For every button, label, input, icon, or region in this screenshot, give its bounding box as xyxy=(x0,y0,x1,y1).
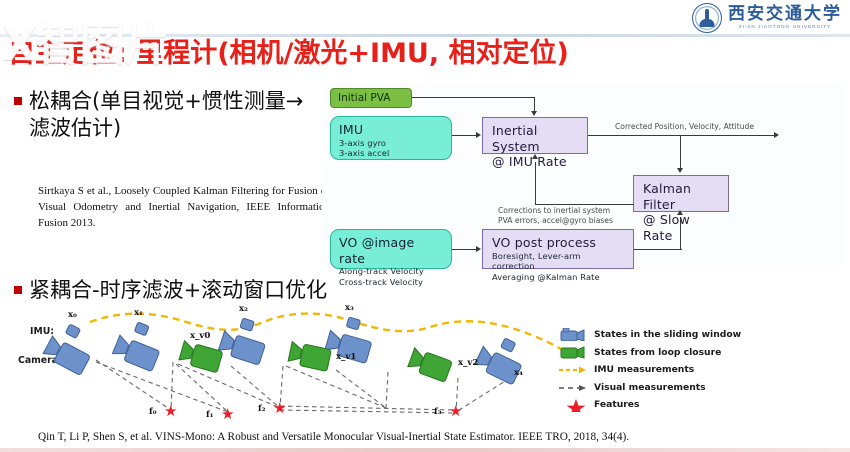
arrow-corrections-up-icon xyxy=(532,154,538,159)
vins-loop-state-xv0: x_v0 xyxy=(190,331,210,341)
loosely-coupled-block-diagram: Initial PVA IMU 3-axis gyro 3-axis accel… xyxy=(322,84,846,266)
legend-label-imu-measurements: IMU measurements xyxy=(594,364,694,375)
legend-label-loop-closure: States from loop closure xyxy=(594,347,721,358)
arrow-post-up-icon xyxy=(677,210,683,215)
vins-feature-f2: f₂ xyxy=(258,404,265,414)
bullet-loose-label: 松耦合(单目视觉+惯性测量→滤波估计) xyxy=(29,88,314,142)
vins-state-x0: x₀ xyxy=(68,310,77,320)
blue-camera-icon xyxy=(557,328,587,341)
vins-state-x1: x₁ xyxy=(134,308,143,318)
legend-row-features: Features xyxy=(557,396,807,414)
node-imu: IMU 3-axis gyro 3-axis accel xyxy=(330,116,452,160)
arrow-to-kalman-down-icon xyxy=(677,168,683,173)
feature-star-icon-0: ★ xyxy=(164,404,177,419)
vins-feature-f0: f₀ xyxy=(149,407,156,417)
vins-state-x2: x₂ xyxy=(239,304,248,314)
university-name-en: XI'AN JIAOTONG UNIVERSITY xyxy=(728,25,842,30)
node-kalman-filter-line1: Kalman Filter xyxy=(643,181,719,212)
edge-vo-to-post xyxy=(452,249,477,250)
red-star-icon xyxy=(565,398,587,411)
node-vo-post-process-line1: Boresight, Lever-arm correction xyxy=(492,251,624,273)
reference-loose: Sirtkaya S et al., Loosely Coupled Kalma… xyxy=(38,184,330,232)
node-kalman-filter: Kalman Filter @ Slow Rate xyxy=(633,175,729,212)
edge-post-to-kalman-h xyxy=(634,249,682,250)
legend-label-visual-measurements: Visual measurements xyxy=(594,382,706,393)
edge-output-to-kalman xyxy=(680,135,681,169)
legend-row-visual-measurements: Visual measurements xyxy=(557,379,807,397)
legend-label-features: Features xyxy=(594,399,640,410)
edge-pva-to-inertial-h xyxy=(412,97,535,98)
footer-divider xyxy=(0,448,850,452)
node-vo-image-rate-title: VO @image rate xyxy=(339,235,443,266)
label-corrections-line2: PVA errors, accel@gyro biases xyxy=(498,216,613,225)
label-corrections: Corrections to inertial system PVA error… xyxy=(498,206,613,227)
arrow-vo-right-icon xyxy=(476,246,481,252)
legend-row-sliding-window: States in the sliding window xyxy=(557,326,807,344)
vins-loop-state-xv2: x_v2 xyxy=(458,358,478,368)
legend-label-sliding-window: States in the sliding window xyxy=(594,329,741,340)
gray-dashed-arrow-icon xyxy=(557,381,587,394)
edge-post-to-kalman-v xyxy=(680,218,681,249)
edge-imu-to-inertial xyxy=(452,135,477,136)
arrow-corrected-right-icon xyxy=(774,132,779,138)
green-camera-icon xyxy=(557,346,587,359)
node-inertial-system: Inertial System @ IMU Rate xyxy=(482,117,588,154)
node-vo-post-process-line2: Averaging @Kalman Rate xyxy=(492,272,624,283)
node-initial-pva: Initial PVA xyxy=(330,88,412,108)
university-name-cn: 西安交通大学 xyxy=(728,6,842,23)
label-corrections-line1: Corrections to inertial system xyxy=(498,206,610,215)
node-imu-title: IMU xyxy=(339,122,443,138)
university-seal-icon xyxy=(692,3,722,33)
vins-state-x3: x₃ xyxy=(345,303,354,313)
edge-pva-to-inertial-v xyxy=(534,97,535,112)
node-initial-pva-label: Initial PVA xyxy=(338,92,390,104)
feature-star-icon-3: ★ xyxy=(449,404,462,419)
node-inertial-system-line1: Inertial System xyxy=(492,123,578,154)
legend-row-imu-measurements: IMU measurements xyxy=(557,361,807,379)
vins-state-x4: x₄ xyxy=(514,368,523,378)
node-vo-image-rate-line1: Along-track Velocity xyxy=(339,266,443,277)
arrow-pva-down-icon xyxy=(531,111,537,116)
reference-vins: Qin T, Li P, Shen S, et al. VINS-Mono: A… xyxy=(38,430,828,445)
arrow-imu-right-icon xyxy=(476,132,481,138)
yellow-dashed-arrow-icon xyxy=(557,363,587,376)
edge-inertial-output xyxy=(588,135,776,136)
node-vo-post-process-title: VO post process xyxy=(492,235,624,251)
label-corrected-output: Corrected Position, Velocity, Attitude xyxy=(615,122,754,132)
edge-corrections-to-inertial-v xyxy=(535,162,536,204)
vins-legend: States in the sliding window States from… xyxy=(557,326,807,414)
node-vo-post-process: VO post process Boresight, Lever-arm cor… xyxy=(482,229,634,269)
university-logo: 西安交通大学 XI'AN JIAOTONG UNIVERSITY xyxy=(692,2,842,34)
vins-loop-state-xv1: x_v1 xyxy=(336,352,356,362)
node-vo-image-rate: VO @image rate Along-track Velocity Cros… xyxy=(330,229,452,269)
bullet-loose-coupling: 松耦合(单目视觉+惯性测量→滤波估计) xyxy=(14,88,314,142)
bullet-square-icon-2 xyxy=(14,286,22,294)
slide: 西安交通大学 XI'AN JIAOTONG UNIVERSITY 自主定位: 里… xyxy=(0,0,850,452)
legend-row-loop-closure: States from loop closure xyxy=(557,344,807,362)
slide-title: 自主定位: 里程计(相机/激光+IMU, 相对定位) xyxy=(8,36,728,72)
bullet-square-icon xyxy=(14,97,22,105)
node-imu-line1: 3-axis gyro xyxy=(339,138,443,149)
vins-feature-f1: f₁ xyxy=(206,410,213,420)
vins-feature-f3: f₃ xyxy=(434,407,441,417)
node-imu-line2: 3-axis accel xyxy=(339,148,443,159)
feature-star-icon-1: ★ xyxy=(221,407,234,422)
feature-star-icon-2: ★ xyxy=(273,401,286,416)
